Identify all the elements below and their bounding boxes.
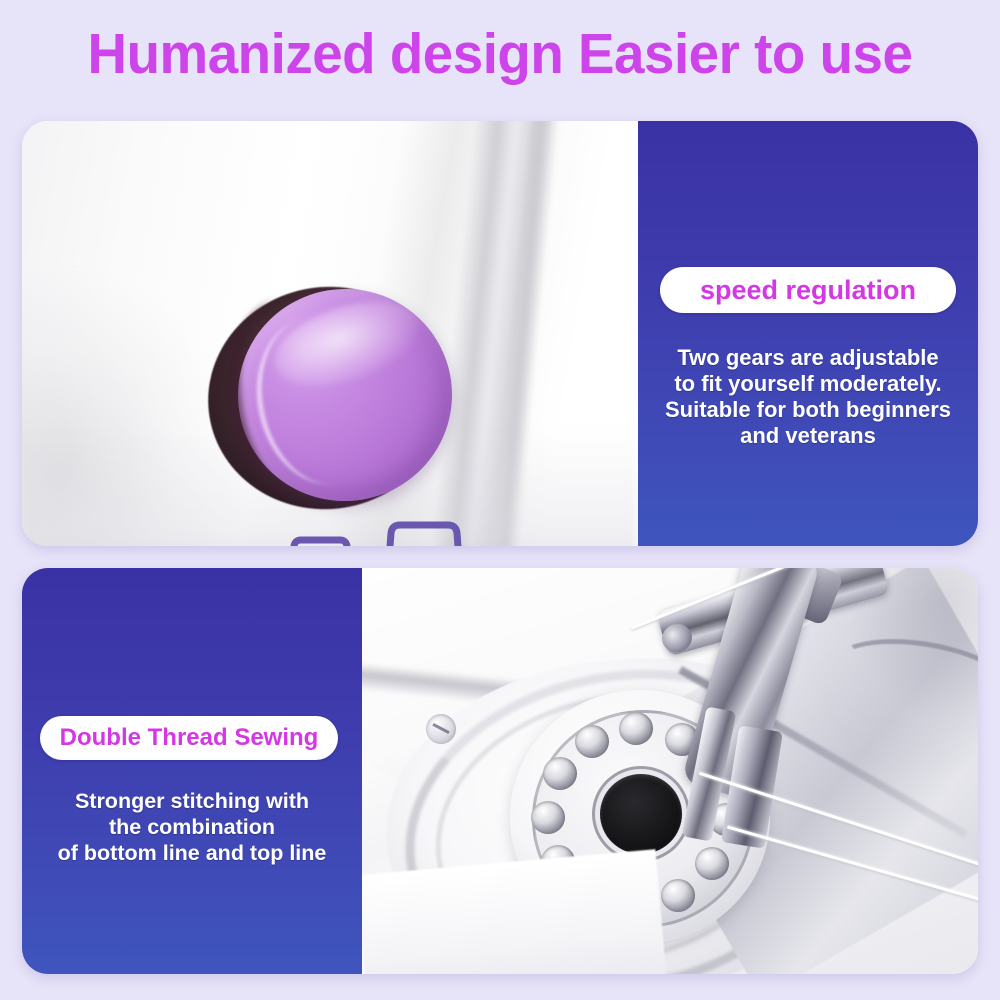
bobbin-hole bbox=[661, 879, 695, 912]
speed-dial-photo: L H bbox=[22, 121, 638, 546]
double-thread-info-panel: Double Thread Sewing Stronger stitching … bbox=[22, 568, 362, 974]
description-line: Two gears are adjustable bbox=[646, 345, 970, 371]
double-thread-badge-label: Double Thread Sewing bbox=[60, 724, 319, 752]
housing-screw bbox=[426, 714, 456, 744]
bobbin-mechanism-photo bbox=[362, 568, 978, 974]
feature-card-double-thread-sewing: Double Thread Sewing Stronger stitching … bbox=[22, 568, 978, 974]
description-line: Suitable for both beginners bbox=[646, 397, 970, 423]
bobbin-hole bbox=[575, 725, 609, 758]
bobbin-center-hub bbox=[600, 774, 682, 854]
description-line: and veterans bbox=[646, 423, 970, 449]
mechanism-corner-shading bbox=[808, 568, 978, 768]
bobbin-hole bbox=[619, 712, 653, 745]
description-line: of bottom line and top line bbox=[28, 840, 356, 866]
speed-regulation-info-panel: speed regulation Two gears are adjustabl… bbox=[638, 121, 978, 546]
product-feature-poster: Humanized design Easier to use bbox=[0, 0, 1000, 1000]
high-speed-marking-icon bbox=[360, 517, 490, 546]
speed-regulation-badge-label: speed regulation bbox=[700, 275, 916, 306]
page-title: Humanized design Easier to use bbox=[20, 18, 980, 90]
double-thread-badge: Double Thread Sewing bbox=[40, 716, 338, 760]
bobbin-hole bbox=[543, 757, 577, 790]
speed-regulation-badge: speed regulation bbox=[660, 267, 956, 313]
feature-card-speed-regulation: L H speed regulation Two gears are adjus… bbox=[22, 121, 978, 546]
bobbin-hole bbox=[695, 847, 729, 880]
description-line: the combination bbox=[28, 814, 356, 840]
double-thread-description: Stronger stitching with the combination … bbox=[28, 788, 356, 866]
description-line: Stronger stitching with bbox=[28, 788, 356, 814]
description-line: to fit yourself moderately. bbox=[646, 371, 970, 397]
bobbin-hole bbox=[531, 801, 565, 834]
speed-regulation-description: Two gears are adjustable to fit yourself… bbox=[646, 345, 970, 449]
